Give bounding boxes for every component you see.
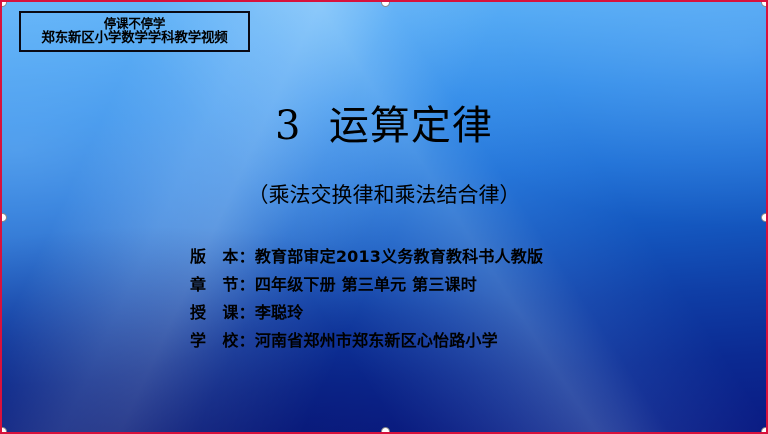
resize-handle-top-center[interactable] xyxy=(381,0,390,7)
page-title: 3 运算定律 xyxy=(2,106,766,146)
background-glow-left xyxy=(2,2,766,432)
meta-value-chapter: 四年级下册 第三单元 第三课时 xyxy=(255,271,477,295)
background-swoosh-lower xyxy=(2,2,766,432)
resize-handle-bottom-left[interactable] xyxy=(0,427,7,434)
resize-handle-top-right[interactable] xyxy=(761,0,768,7)
page-subtitle: （乘法交换律和乘法结合律） xyxy=(2,185,766,206)
meta-row-school: 学 校： 河南省郑州市郑东新区心怡路小学 xyxy=(190,327,543,355)
resize-handle-bottom-right[interactable] xyxy=(761,427,768,434)
meta-value-school: 河南省郑州市郑东新区心怡路小学 xyxy=(255,327,498,351)
meta-label-teacher: 授 课： xyxy=(190,299,255,323)
resize-handle-bottom-center[interactable] xyxy=(381,427,390,434)
banner-textbox[interactable]: 停课不停学 郑东新区小学数学学科教学视频 xyxy=(19,11,250,52)
background-shade-bottom xyxy=(2,2,766,432)
meta-value-version: 教育部审定2013义务教育教科书人教版 xyxy=(255,243,543,267)
resize-handle-middle-left[interactable] xyxy=(0,213,7,222)
meta-row-teacher: 授 课： 李聪玲 xyxy=(190,299,543,327)
presentation-slide[interactable]: 停课不停学 郑东新区小学数学学科教学视频 3 运算定律 （乘法交换律和乘法结合律… xyxy=(0,0,768,434)
resize-handle-top-left[interactable] xyxy=(0,0,7,7)
meta-value-teacher: 李聪玲 xyxy=(255,299,304,323)
meta-row-chapter: 章 节： 四年级下册 第三单元 第三课时 xyxy=(190,271,543,299)
meta-row-version: 版 本： 教育部审定2013义务教育教科书人教版 xyxy=(190,243,543,271)
meta-label-chapter: 章 节： xyxy=(190,271,255,295)
resize-handle-middle-right[interactable] xyxy=(761,213,768,222)
slide-background-gradient xyxy=(2,2,766,432)
slide-meta-list: 版 本： 教育部审定2013义务教育教科书人教版 章 节： 四年级下册 第三单元… xyxy=(190,243,543,355)
background-glow-right xyxy=(2,2,766,432)
meta-label-version: 版 本： xyxy=(190,243,255,267)
background-swoosh-upper xyxy=(2,2,766,432)
banner-line-2: 郑东新区小学数学学科教学视频 xyxy=(41,31,227,45)
meta-label-school: 学 校： xyxy=(190,327,255,351)
banner-line-1: 停课不停学 xyxy=(104,17,166,30)
